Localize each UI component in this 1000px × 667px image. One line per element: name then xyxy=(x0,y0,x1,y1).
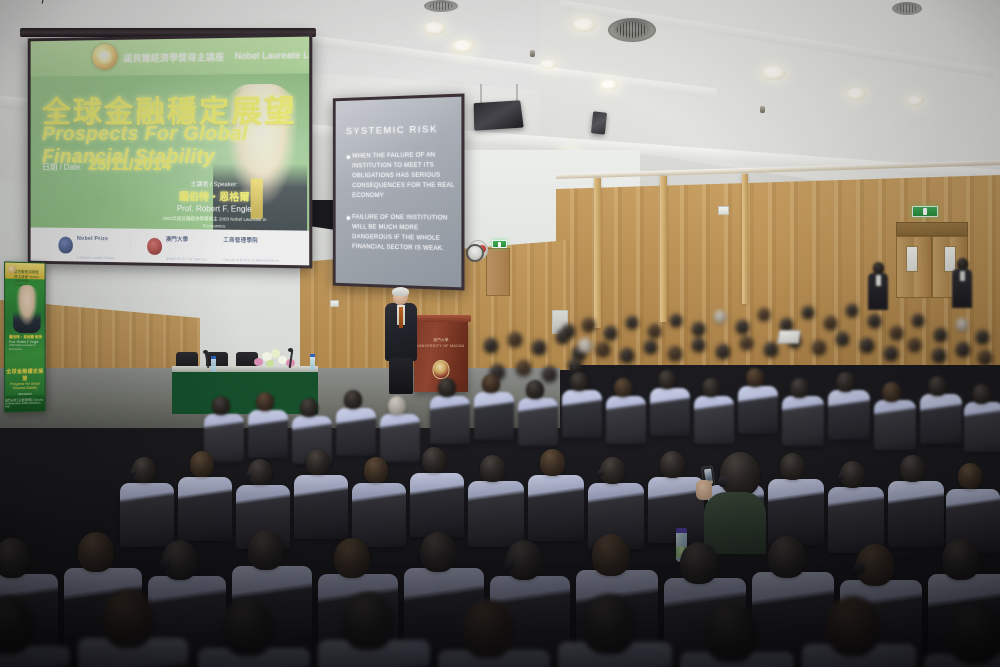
person-head xyxy=(702,378,720,397)
person-head xyxy=(956,318,968,331)
ceiling-downlight xyxy=(762,66,786,80)
person-head xyxy=(660,451,685,478)
person-head xyxy=(222,598,274,656)
person-head xyxy=(388,396,406,415)
person-hand xyxy=(696,480,712,500)
person-head xyxy=(648,324,661,338)
slide-header-band: 諾貝爾經濟學獎得主講座 Nobel Laureate Lecture xyxy=(31,37,310,77)
slide-bullet-item: FAILURE OF ONE INSTITUTION WILL BE MUCH … xyxy=(347,213,457,255)
slide-speaker-name-english: Prof. Robert F. Engle xyxy=(155,204,274,214)
person-head xyxy=(344,390,362,409)
person-head xyxy=(644,340,657,354)
person-head xyxy=(102,590,154,648)
person-head xyxy=(556,330,569,344)
screen-surface: 諾貝爾經濟學獎得主講座 Nobel Laureate Lecture 全球金融穩… xyxy=(31,37,310,266)
person-head xyxy=(190,451,214,477)
person-head xyxy=(860,338,874,353)
person-head xyxy=(812,340,826,355)
air-vent xyxy=(608,18,656,42)
translation-headset xyxy=(854,562,865,575)
person-head xyxy=(420,532,456,572)
ceiling-downlight xyxy=(452,40,474,53)
running-man-icon xyxy=(498,242,501,247)
person-head xyxy=(780,453,805,480)
ceiling-speaker xyxy=(474,100,524,130)
sprinkler-head xyxy=(760,106,765,113)
logo-line1: Nobel Prize xyxy=(77,236,108,242)
person-head xyxy=(720,452,760,496)
person-head xyxy=(740,336,753,350)
person-head xyxy=(736,320,749,334)
slide-bullet-text: WHEN THE FAILURE OF AN INSTITUTION TO ME… xyxy=(352,150,457,201)
slide-speaker-name-chinese: 羅伯特‧恩格爾 xyxy=(155,188,274,204)
translation-headset xyxy=(160,558,171,571)
slide-date-label: 日期 / Date: xyxy=(42,162,82,173)
person-head xyxy=(908,338,921,352)
auditorium-photo: 諾貝爾經濟學獎得主講座 Nobel Laureate Lecture 全球金融穩… xyxy=(0,0,1000,667)
person-head xyxy=(790,378,809,398)
foreground-attendees xyxy=(0,650,1000,667)
translation-headset xyxy=(838,473,844,480)
person-head xyxy=(78,532,114,572)
slide-bullet-text: FAILURE OF ONE INSTITUTION WILL BE MUCH … xyxy=(352,213,457,255)
person-head xyxy=(540,449,565,476)
person-head xyxy=(680,542,718,584)
person-head xyxy=(768,536,806,578)
person-head xyxy=(248,530,284,570)
person-head xyxy=(364,457,388,483)
person-head xyxy=(582,594,636,654)
person-head xyxy=(578,338,592,353)
slide-header-text-en: Nobel Laureate Lecture xyxy=(235,49,310,61)
logo-line1: 澳門大學 xyxy=(166,237,189,243)
audience-area xyxy=(0,250,1000,667)
person-head xyxy=(714,310,726,323)
person-head xyxy=(758,308,770,321)
slide-bullet-item: WHEN THE FAILURE OF AN INSTITUTION TO ME… xyxy=(347,150,457,201)
person-head xyxy=(836,332,849,346)
projection-screen-main: 諾貝爾經濟學獎得主講座 Nobel Laureate Lecture 全球金融穩… xyxy=(28,33,313,268)
person-head xyxy=(890,326,903,340)
person-head xyxy=(942,538,980,580)
slide-date-row: 日期 / Date: 25/11/2014 xyxy=(42,155,171,175)
person-head xyxy=(826,596,880,656)
person-head xyxy=(482,374,500,393)
person-head xyxy=(626,316,638,329)
ceiling-downlight xyxy=(572,18,596,32)
slide-speaker-block: 主講者 / Speaker: 羅伯特‧恩格爾 Prof. Robert F. E… xyxy=(155,179,274,231)
ceiling-downlight xyxy=(906,96,924,106)
running-man-icon xyxy=(923,208,927,215)
person-head xyxy=(0,596,34,654)
ceiling-speaker xyxy=(591,111,607,134)
person-head xyxy=(484,338,498,353)
person-head xyxy=(422,447,446,473)
ceiling-downlight xyxy=(424,22,446,35)
person-head xyxy=(836,372,855,392)
exit-sign xyxy=(492,240,507,248)
air-vent xyxy=(424,0,458,12)
person-head xyxy=(746,368,764,387)
translation-headset xyxy=(718,476,727,487)
person-head xyxy=(256,392,274,411)
person-head xyxy=(342,592,394,650)
person-head xyxy=(508,332,522,347)
person-head xyxy=(306,449,330,475)
person-head xyxy=(614,378,632,397)
wall-control-panel[interactable] xyxy=(718,206,729,215)
ceiling-downlight xyxy=(846,88,866,100)
sprinkler-head xyxy=(530,50,535,57)
person-head xyxy=(212,396,230,415)
person-head xyxy=(570,372,588,391)
person-head xyxy=(334,538,370,578)
bullet-icon xyxy=(347,156,349,158)
person-head xyxy=(972,384,991,404)
person-head xyxy=(480,455,505,482)
person-head xyxy=(928,376,947,396)
translation-headset xyxy=(130,469,136,476)
person-head xyxy=(958,463,982,489)
translation-headset xyxy=(504,558,515,571)
person-head xyxy=(0,538,30,578)
translation-headset xyxy=(598,469,604,476)
person-head xyxy=(604,326,617,340)
person-head xyxy=(300,398,318,417)
slide-header-text: 諾貝爾經濟學獎得主講座 xyxy=(124,50,225,64)
bullet-icon xyxy=(347,217,349,219)
attendee-laptop[interactable] xyxy=(777,330,801,344)
person-head xyxy=(824,316,837,330)
person-head xyxy=(976,330,989,344)
slide-nobel-lecture-poster: 諾貝爾經濟學獎得主講座 Nobel Laureate Lecture 全球金融穩… xyxy=(31,37,310,266)
person-head xyxy=(934,328,947,342)
slide-date-value: 25/11/2014 xyxy=(88,155,171,175)
exit-sign xyxy=(912,206,938,217)
person-head xyxy=(900,455,925,482)
ceiling-downlight xyxy=(540,60,556,69)
logo-line1: 工商管理學院 xyxy=(223,238,258,245)
person-head xyxy=(868,314,881,328)
person-head xyxy=(692,338,705,352)
person-head xyxy=(692,322,705,336)
person-head xyxy=(532,340,546,355)
person-head xyxy=(802,306,814,319)
person-head xyxy=(658,370,676,389)
person-head xyxy=(592,534,630,576)
person-head xyxy=(670,314,682,327)
person-head xyxy=(846,304,858,317)
ceiling-downlight xyxy=(600,80,618,90)
person-head xyxy=(526,380,544,399)
person-head xyxy=(882,382,901,402)
person-head xyxy=(912,314,924,327)
slide-heading: SYSTEMIC RISK xyxy=(346,124,438,137)
air-vent xyxy=(892,2,922,15)
translation-headset xyxy=(246,471,252,478)
door-transom xyxy=(896,222,968,236)
